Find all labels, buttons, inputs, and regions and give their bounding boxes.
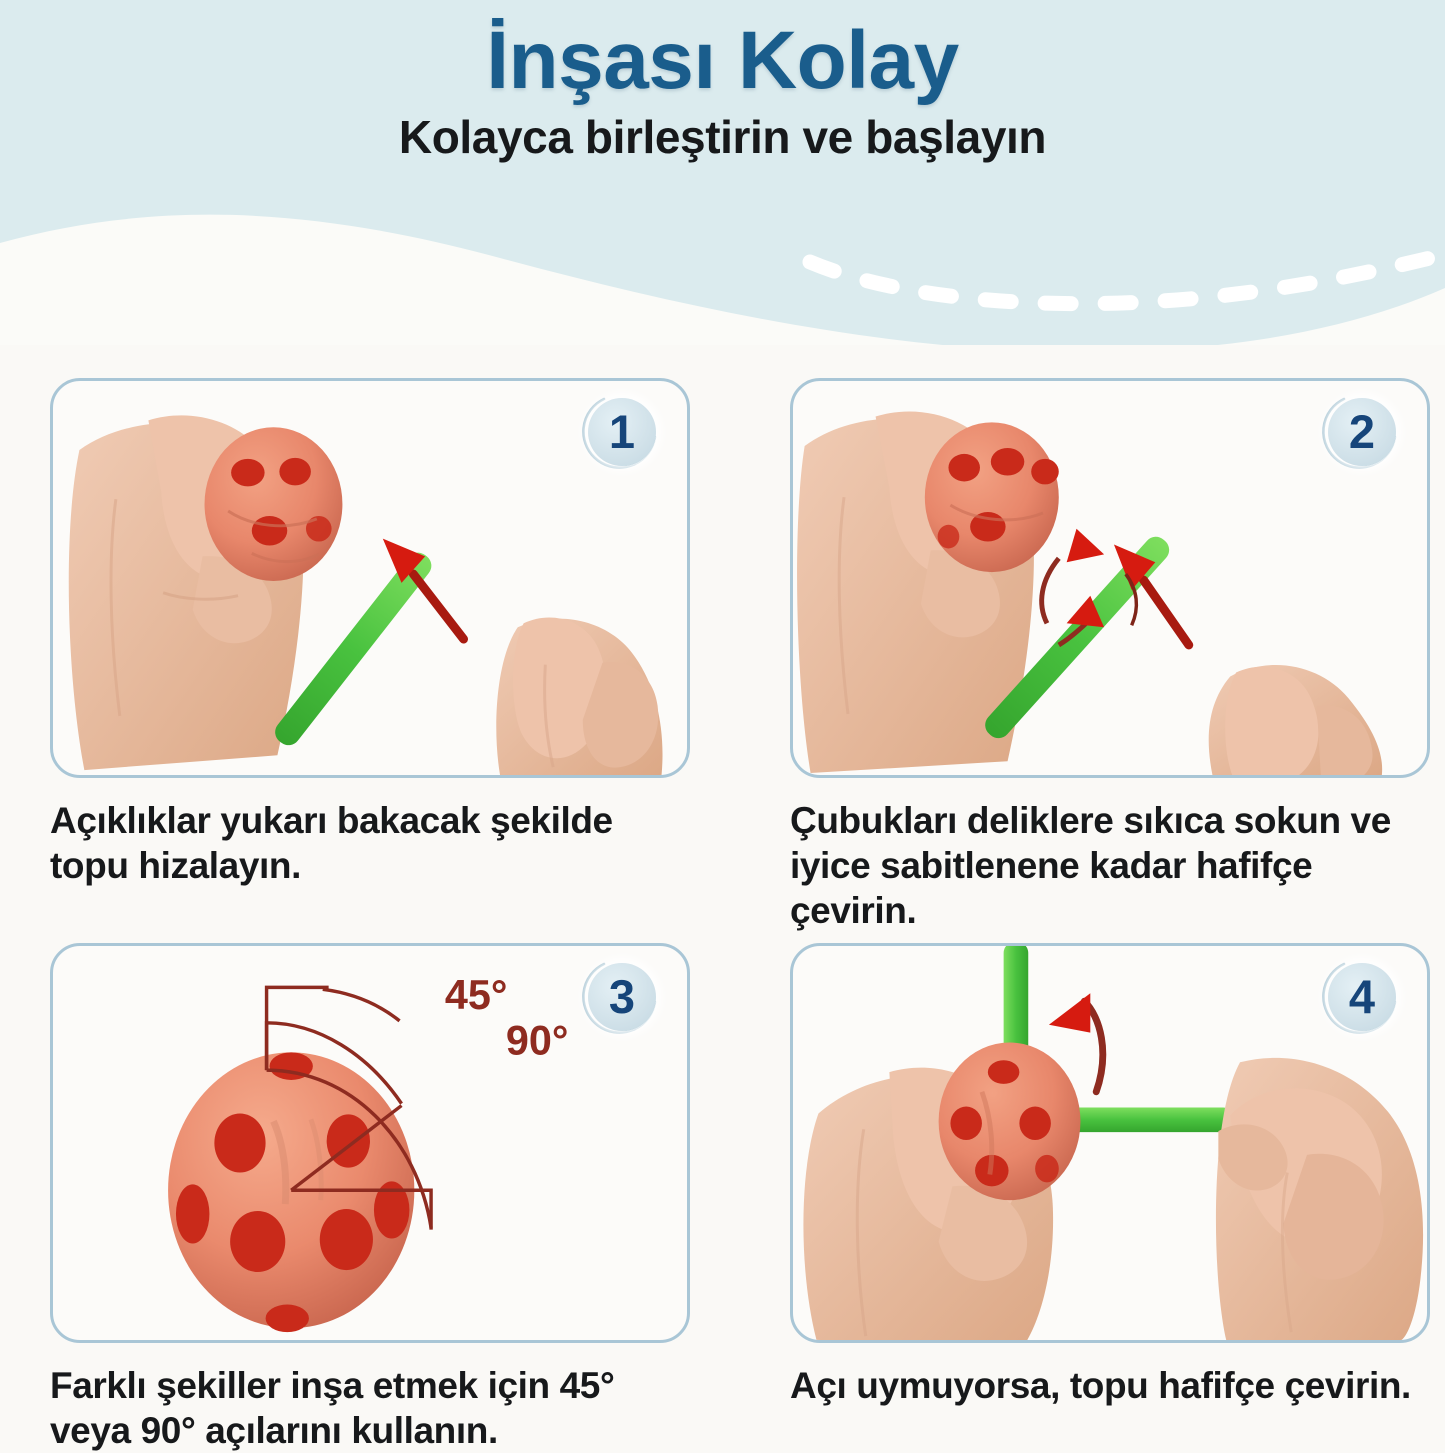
step-badge-4: 4 xyxy=(1319,954,1405,1040)
step-image-panel-3: 45° 90° 3 xyxy=(50,943,690,1343)
badge-number: 2 xyxy=(1328,398,1396,466)
step-caption-4: Açı uymuyorsa, topu hafifçe çevirin. xyxy=(790,1363,1430,1408)
orange-ball-illustration xyxy=(925,422,1059,572)
page-subtitle: Kolayca birleştirin ve başlayın xyxy=(0,104,1445,163)
orange-ball-illustration xyxy=(939,1043,1081,1201)
orange-ball-illustration xyxy=(168,1052,414,1332)
step-image-panel-1: 1 xyxy=(50,378,690,778)
right-hand-illustration xyxy=(1216,1058,1423,1340)
step-card-3: 45° 90° 3 Farklı şekiller inşa etmek içi… xyxy=(50,943,690,1453)
step-caption-1: Açıklıklar yukarı bakacak şekilde topu h… xyxy=(50,798,670,888)
step-image-panel-2: 2 xyxy=(790,378,1430,778)
step-image-panel-4: 4 xyxy=(790,943,1430,1343)
step-card-2: 2 Çubukları deliklere sıkıca sokun ve iy… xyxy=(790,378,1430,933)
step-card-4: 4 Açı uymuyorsa, topu hafifçe çevirin. xyxy=(790,943,1430,1408)
step-caption-3: Farklı şekiller inşa etmek için 45° veya… xyxy=(50,1363,670,1453)
step-card-1: 1 Açıklıklar yukarı bakacak şekilde topu… xyxy=(50,378,690,888)
orange-ball-illustration xyxy=(205,427,343,581)
steps-grid: 1 Açıklıklar yukarı bakacak şekilde topu… xyxy=(0,355,1445,1445)
page-title: İnşası Kolay xyxy=(0,0,1445,104)
angle-label-45: 45° xyxy=(445,972,508,1018)
right-hand-illustration xyxy=(1209,665,1382,775)
step-badge-2: 2 xyxy=(1319,389,1405,475)
dashed-curve-decoration xyxy=(810,258,1430,304)
right-hand-illustration xyxy=(496,618,662,775)
badge-number: 3 xyxy=(588,963,656,1031)
header-banner: İnşası Kolay Kolayca birleştirin ve başl… xyxy=(0,0,1445,345)
header-wave-shape xyxy=(0,215,1445,345)
step-badge-1: 1 xyxy=(579,389,665,475)
step-caption-2: Çubukları deliklere sıkıca sokun ve iyic… xyxy=(790,798,1410,933)
badge-number: 4 xyxy=(1328,963,1396,1031)
step-badge-3: 3 xyxy=(579,954,665,1040)
angle-label-90: 90° xyxy=(506,1017,569,1063)
badge-number: 1 xyxy=(588,398,656,466)
